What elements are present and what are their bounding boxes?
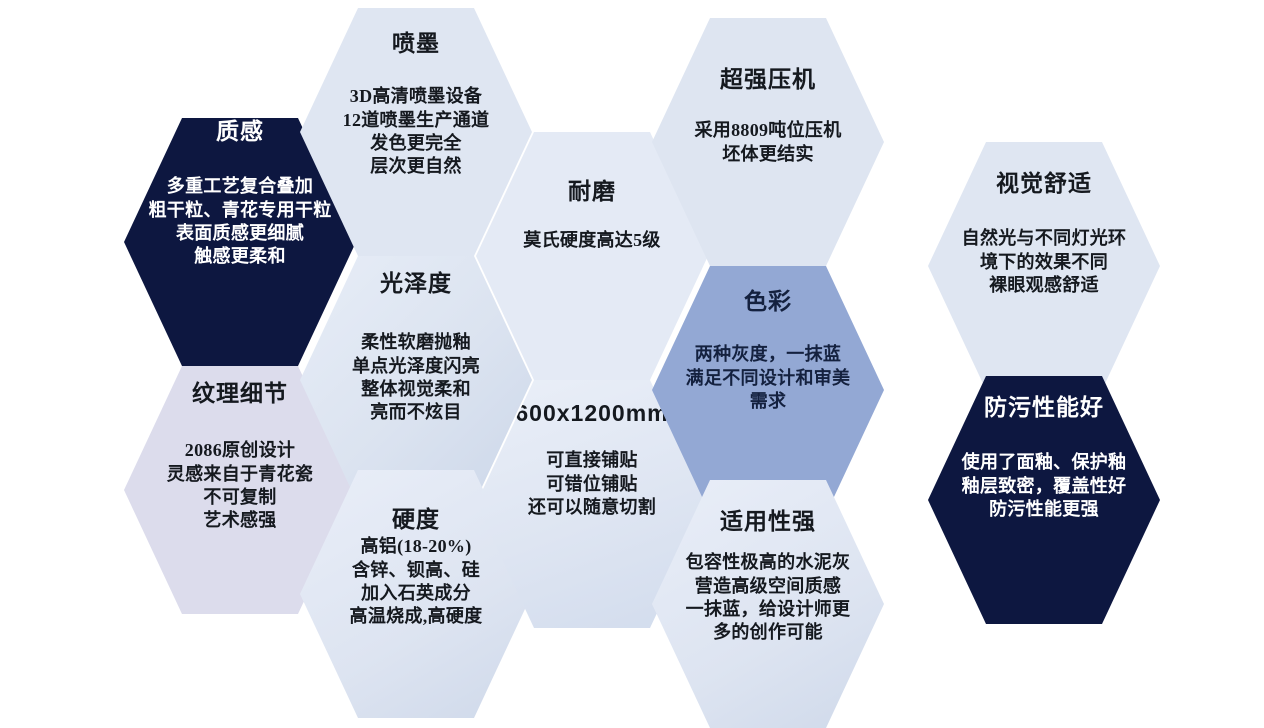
hex-title: 纹理细节 — [192, 380, 288, 407]
hex-body: 莫氏硬度高达5级 — [523, 229, 660, 252]
hex-title: 适用性强 — [720, 508, 816, 535]
hex-body: 2086原创设计 灵感来自于青花瓷 不可复制 艺术感强 — [167, 439, 313, 533]
hex-body: 包容性极高的水泥灰 营造高级空间质感 一抹蓝，给设计师更 多的创作可能 — [686, 551, 851, 645]
hex-title: 防污性能好 — [984, 394, 1104, 421]
hex-body: 3D高清喷墨设备 12道喷墨生产通道 发色更完全 层次更自然 — [343, 85, 490, 179]
hex-title: 600x1200mm — [515, 400, 668, 427]
hex-title: 质感 — [216, 118, 264, 145]
hex-body: 柔性软磨抛釉 单点光泽度闪亮 整体视觉柔和 亮而不炫目 — [352, 331, 480, 425]
honeycomb-infographic: 质感 多重工艺复合叠加 粗干粒、青花专用干粒 表面质感更细腻 触感更柔和 纹理细… — [0, 0, 1264, 719]
hex-body: 采用8809吨位压机 坯体更结实 — [695, 119, 842, 166]
hex-title: 硬度 — [392, 506, 440, 533]
hex-title: 光泽度 — [380, 270, 452, 297]
hex-title: 视觉舒适 — [996, 170, 1092, 197]
hex-title: 耐磨 — [568, 178, 616, 205]
hex-body: 可直接铺贴 可错位铺贴 还可以随意切割 — [528, 449, 656, 519]
hex-title: 色彩 — [744, 288, 792, 315]
hex-body: 多重工艺复合叠加 粗干粒、青花专用干粒 表面质感更细腻 触感更柔和 — [149, 175, 332, 269]
hex-anti-fouling[interactable]: 防污性能好 使用了面釉、保护釉 釉层致密，覆盖性好 防污性能更强 — [928, 376, 1160, 624]
hex-visual-comfort[interactable]: 视觉舒适 自然光与不同灯光环 境下的效果不同 裸眼观感舒适 — [928, 142, 1160, 390]
hex-body: 使用了面釉、保护釉 釉层致密，覆盖性好 防污性能更强 — [962, 451, 1127, 521]
hex-body: 两种灰度，一抹蓝 满足不同设计和审美 需求 — [686, 343, 851, 413]
hex-body: 高铝(18-20%) 含锌、钡高、硅 加入石英成分 高温烧成,高硬度 — [350, 535, 483, 629]
hex-title: 超强压机 — [720, 66, 816, 93]
hex-title: 喷墨 — [392, 30, 440, 57]
hex-body: 自然光与不同灯光环 境下的效果不同 裸眼观感舒适 — [962, 227, 1127, 297]
